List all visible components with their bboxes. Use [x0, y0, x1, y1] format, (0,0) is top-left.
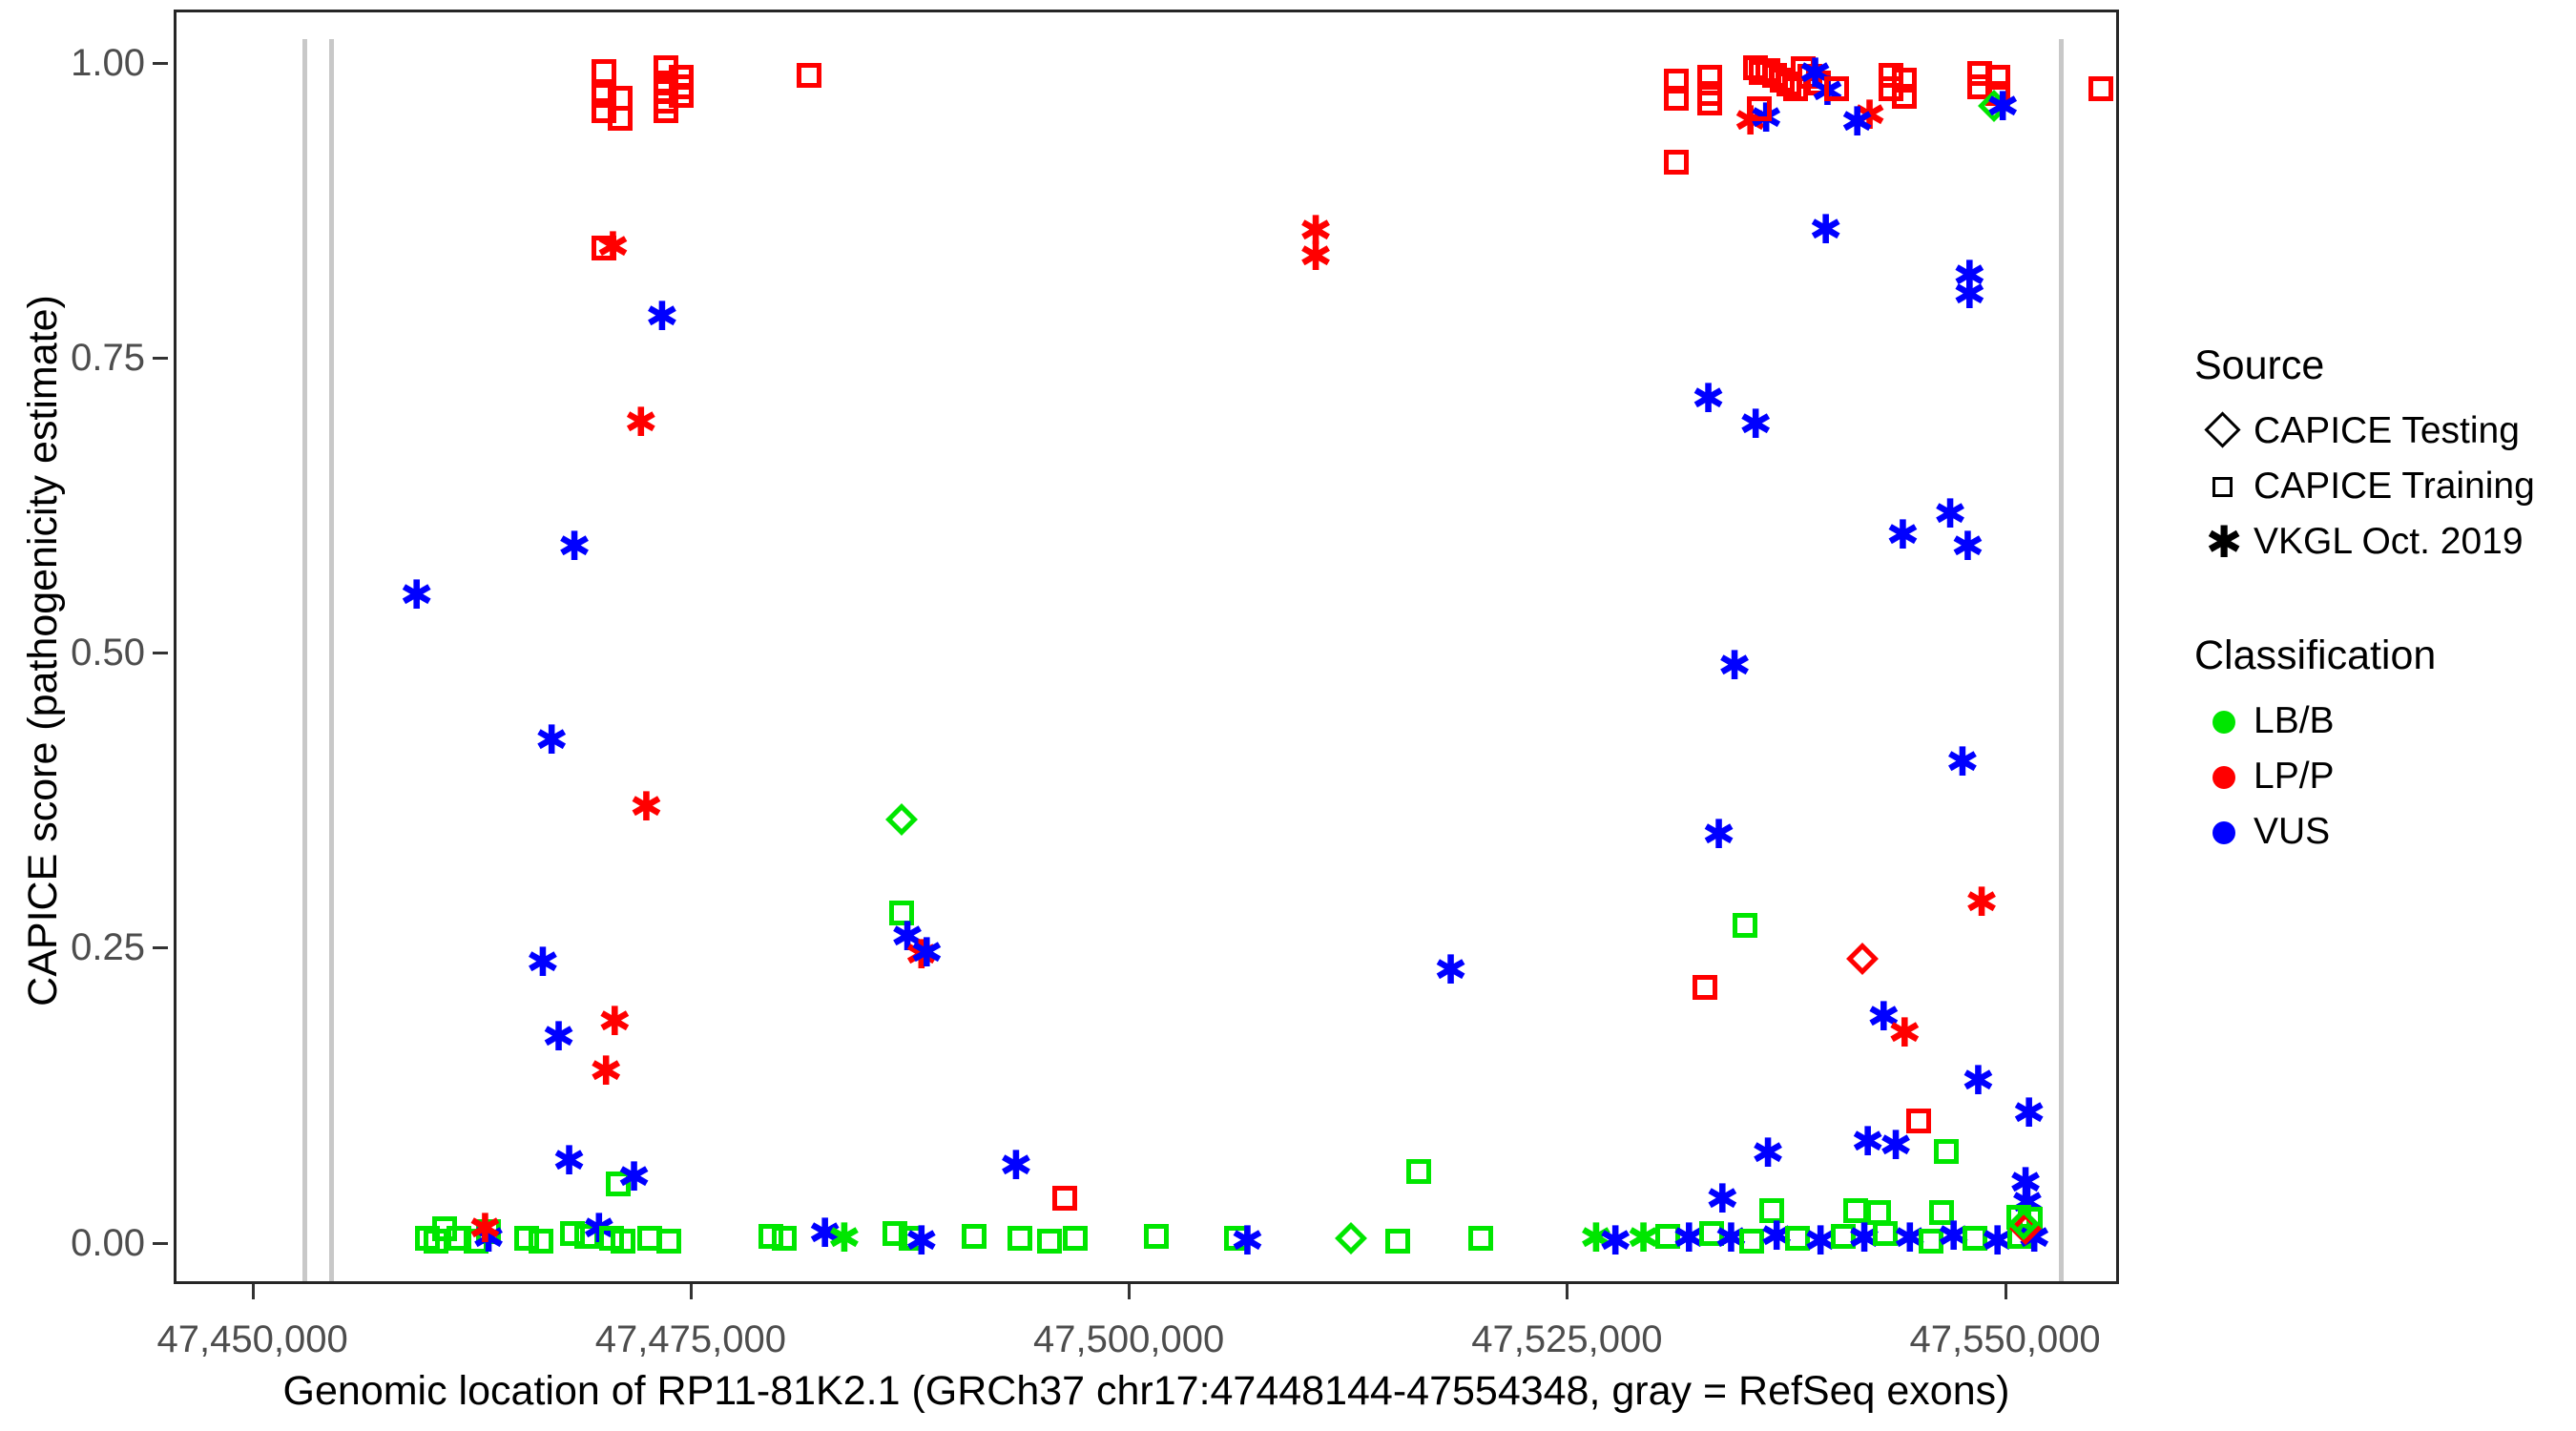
- scatter-point: [1873, 1221, 1898, 1246]
- scatter-point: ✱: [1946, 527, 1988, 567]
- scatter-point: [476, 1219, 501, 1244]
- x-tick-label: 47,550,000: [1862, 1318, 2149, 1360]
- scatter-point: ✱: [620, 403, 662, 443]
- scatter-point: ✱: [1961, 882, 2003, 923]
- scatter-point: ✱: [641, 297, 683, 337]
- legend-item-label: CAPICE Testing: [2254, 404, 2520, 459]
- scatter-point: [1759, 1198, 1784, 1223]
- scatter-point: [2006, 1205, 2031, 1230]
- scatter-point: [1697, 81, 1722, 106]
- scatter-point: ✱: [1881, 515, 1923, 555]
- x-tick-mark: [1566, 1284, 1568, 1299]
- scatter-point: [1919, 1229, 1943, 1254]
- scatter-point: [758, 1224, 783, 1249]
- scatter-point: [1655, 1224, 1680, 1249]
- x-tick-mark: [2005, 1284, 2007, 1299]
- scatter-point: [1008, 1226, 1032, 1251]
- scatter-point: [899, 1226, 924, 1251]
- scatter-point: ✱: [530, 720, 572, 760]
- scatter-point: ✱: [1735, 404, 1776, 445]
- scatter-point: ✱: [1957, 1061, 1999, 1101]
- scatter-point: ✱: [1701, 1179, 1743, 1219]
- scatter-point: ✱: [625, 787, 667, 827]
- scatter-point: [889, 901, 914, 925]
- scatter-point: [1985, 65, 2010, 90]
- scatter-point: [886, 803, 919, 836]
- scatter-point: [1866, 1200, 1891, 1225]
- y-tick-mark: [153, 357, 168, 360]
- scatter-point: ✱: [823, 1218, 865, 1258]
- scatter-point: [1762, 63, 1787, 88]
- x-tick-label: 47,500,000: [986, 1318, 1272, 1360]
- scatter-point: [447, 1226, 471, 1251]
- scatter-point: [1785, 1226, 1810, 1251]
- scatter-point: ✱: [464, 1209, 506, 1249]
- scatter-point: ✱: [1837, 102, 1879, 142]
- scatter-point: [1664, 150, 1689, 175]
- scatter-point: [608, 106, 633, 131]
- scatter-point: ✱: [1295, 211, 1337, 251]
- scatter-point: ✱: [1714, 646, 1755, 686]
- scatter-point: ✱: [1668, 1218, 1710, 1258]
- scatter-point: ✱: [1295, 237, 1337, 277]
- scatter-point: [669, 83, 694, 108]
- scatter-point: ✱: [1698, 815, 1740, 855]
- x-tick-label: 47,525,000: [1423, 1318, 1710, 1360]
- y-axis-tick-labels: 0.000.250.500.751.00: [0, 0, 145, 1431]
- scatter-point: ✱: [396, 575, 438, 615]
- scatter-point: ✱: [1747, 1133, 1789, 1173]
- scatter-point: ✱: [585, 1051, 627, 1091]
- asterisk-icon: ✱: [2194, 514, 2254, 570]
- scatter-point: [608, 86, 633, 111]
- scatter-point: ✱: [553, 527, 595, 567]
- legend-title-classification: Classification: [2194, 629, 2576, 682]
- scatter-point: [1406, 1159, 1431, 1184]
- scatter-point: [1892, 84, 1917, 109]
- legend-key-dot: [2194, 749, 2254, 804]
- legend-item-capice-testing[interactable]: CAPICE Testing: [2194, 404, 2576, 459]
- scatter-point: [415, 1226, 440, 1251]
- scatter-point: ✱: [1889, 1218, 1931, 1258]
- dot-icon: [2212, 766, 2235, 789]
- scatter-point: [1747, 96, 1772, 121]
- dot-icon: [2212, 821, 2235, 844]
- scatter-point: [1749, 60, 1774, 85]
- scatter-point: ✱: [1883, 1013, 1925, 1053]
- scatter-point: [1063, 1226, 1088, 1251]
- scatter-point: ✱: [467, 1218, 509, 1258]
- scatter-point: [2007, 1208, 2040, 1240]
- scatter-point: ✱: [1730, 101, 1772, 141]
- scatter-point: [669, 74, 694, 99]
- scatter-point: [1743, 55, 1768, 80]
- scatter-point: [1967, 74, 1992, 99]
- scatter-point: ✱: [905, 933, 947, 973]
- scatter-point: ✱: [613, 1157, 654, 1197]
- scatter-point: [514, 1226, 539, 1251]
- scatter-point: [1335, 1222, 1367, 1255]
- refseq-exon-line: [2059, 39, 2064, 1281]
- scatter-point: ✱: [1942, 742, 1984, 782]
- x-tick-mark: [252, 1284, 255, 1299]
- plot-panel: ✱✱✱✱✱✱✱✱✱✱✱✱✱✱✱✱✱✱✱✱✱✱✱✱✱✱✱✱✱✱✱✱✱✱✱✱✱✱✱✱…: [174, 10, 2119, 1284]
- scatter-point: [560, 1221, 585, 1246]
- x-axis-title: Genomic location of RP11-81K2.1 (GRCh37 …: [174, 1366, 2119, 1416]
- y-tick-label: 0.75: [2, 339, 145, 377]
- scatter-point: [1776, 72, 1801, 96]
- scatter-point: ✱: [2008, 1093, 2050, 1133]
- scatter-point: ✱: [1862, 997, 1904, 1037]
- scatter-point: [1697, 91, 1722, 115]
- scatter-point: ✱: [1805, 210, 1847, 250]
- scatter-point: [654, 89, 678, 114]
- capice-score-scatter-figure: CAPICE score (pathogenicity estimate) 0.…: [0, 0, 2576, 1431]
- scatter-point: [1978, 90, 2010, 122]
- legend-group-spacer: [2194, 570, 2576, 629]
- legend-key-square: [2194, 459, 2254, 514]
- square-icon: [2212, 477, 2233, 497]
- scatter-point: [1739, 1229, 1764, 1254]
- scatter-point: [1385, 1229, 1410, 1254]
- scatter-point: [1967, 61, 1992, 86]
- scatter-point: [883, 1221, 907, 1246]
- scatter-point: [424, 1229, 448, 1254]
- scatter-point: ✱: [1710, 1218, 1752, 1258]
- scatter-point: ✱: [2013, 1218, 2055, 1258]
- scatter-point: [464, 1229, 488, 1254]
- scatter-point: [1755, 58, 1780, 83]
- scatter-point: [1892, 68, 1917, 93]
- scatter-point: [637, 1226, 662, 1251]
- scatter-point: [1783, 76, 1808, 101]
- scatter-point: ✱: [1799, 1221, 1841, 1261]
- scatter-point: [1664, 86, 1689, 111]
- scatter-point: [606, 1172, 631, 1196]
- scatter-point: [1468, 1226, 1493, 1251]
- scatter-point: [1934, 1139, 1959, 1164]
- scatter-point: [592, 236, 616, 260]
- scatter-point: [1843, 1198, 1868, 1223]
- scatter-point: [2009, 1213, 2042, 1245]
- scatter-point: ✱: [901, 1221, 943, 1261]
- scatter-point: [1846, 943, 1879, 975]
- scatter-point: [611, 1229, 635, 1254]
- scatter-point: [669, 65, 694, 90]
- scatter-point: [1224, 1226, 1249, 1251]
- scatter-point: ✱: [1948, 256, 1990, 296]
- scatter-point: ✱: [1429, 950, 1471, 990]
- scatter-point: ✱: [522, 943, 564, 983]
- scatter-point: [654, 79, 678, 104]
- scatter-point: [2018, 1207, 2043, 1232]
- scatter-point: [1797, 64, 1822, 89]
- scatter-point: [1985, 81, 2010, 106]
- scatter-point: [2007, 1224, 2032, 1249]
- x-tick-label: 47,450,000: [110, 1318, 396, 1360]
- scatter-point: ✱: [1933, 1216, 1975, 1256]
- scatter-point: ✱: [1687, 379, 1729, 419]
- scatter-point: ✱: [2006, 1183, 2048, 1223]
- scatter-point: [1806, 71, 1831, 95]
- scatter-point: ✱: [592, 227, 634, 267]
- legend: SourceCAPICE TestingCAPICE Training✱VKGL…: [2194, 339, 2576, 860]
- refseq-exon-line: [329, 39, 334, 1281]
- scatter-point: [654, 98, 678, 123]
- x-tick-label: 47,475,000: [548, 1318, 834, 1360]
- scatter-point: [1144, 1224, 1169, 1249]
- scatter-point: [2088, 76, 2113, 101]
- legend-item-vus[interactable]: VUS: [2194, 804, 2576, 860]
- scatter-point: ✱: [1226, 1221, 1268, 1261]
- legend-item-lb-b[interactable]: LB/B: [2194, 694, 2576, 749]
- x-tick-mark: [1128, 1284, 1131, 1299]
- scatter-point: ✱: [1929, 494, 1971, 534]
- y-tick-mark: [153, 1242, 168, 1245]
- scatter-point: [654, 71, 678, 95]
- scatter-point: ✱: [901, 935, 943, 975]
- scatter-point: [592, 83, 616, 108]
- y-tick-mark: [153, 946, 168, 949]
- y-tick-label: 0.25: [2, 928, 145, 966]
- scatter-point: ✱: [1795, 53, 1837, 93]
- dot-icon: [2212, 711, 2235, 734]
- scatter-point: ✱: [1806, 72, 1848, 112]
- scatter-point: ✱: [804, 1213, 846, 1254]
- scatter-point: [1879, 63, 1903, 88]
- scatter-point: [1733, 913, 1757, 938]
- scatter-point: [772, 1226, 797, 1251]
- y-tick-label: 0.00: [2, 1224, 145, 1262]
- scatter-point: [1699, 1221, 1724, 1246]
- refseq-exon-line: [302, 39, 307, 1281]
- scatter-point: [1037, 1229, 1062, 1254]
- scatter-point: [1697, 65, 1722, 90]
- x-tick-mark: [690, 1284, 693, 1299]
- scatter-point: [654, 55, 678, 80]
- scatter-point: ✱: [1977, 1221, 2019, 1261]
- scatter-point: [1879, 76, 1903, 101]
- scatter-point: ✱: [1982, 87, 2024, 127]
- scatter-point: ✱: [886, 917, 928, 957]
- scatter-point: [592, 98, 616, 123]
- scatter-point: [529, 1229, 553, 1254]
- legend-item-capice-training[interactable]: CAPICE Training: [2194, 459, 2576, 514]
- scatter-point: [432, 1216, 457, 1241]
- legend-item-lp-p[interactable]: LP/P: [2194, 749, 2576, 804]
- scatter-point: [1664, 69, 1689, 93]
- scatter-point: [1906, 1109, 1931, 1133]
- legend-key-diamond: [2194, 404, 2254, 459]
- scatter-point: [1791, 56, 1816, 81]
- scatter-point: ✱: [1594, 1221, 1636, 1261]
- scatter-point: ✱: [1755, 1216, 1797, 1256]
- scatter-point: ✱: [548, 1141, 590, 1181]
- legend-item-label: LB/B: [2254, 694, 2335, 749]
- scatter-point: [1824, 76, 1849, 101]
- scatter-point: ✱: [1875, 1126, 1917, 1166]
- scatter-point: [1770, 68, 1795, 93]
- scatter-point: ✱: [1575, 1218, 1617, 1258]
- scatter-point: [962, 1224, 987, 1249]
- scatter-point: ✱: [537, 1017, 579, 1057]
- scatter-point: ✱: [593, 1002, 635, 1042]
- scatter-point: [599, 1226, 624, 1251]
- legend-item-label: CAPICE Training: [2254, 459, 2535, 514]
- scatter-point: ✱: [1848, 95, 1890, 135]
- scatter-point: [574, 1224, 599, 1249]
- scatter-point: ✱: [1623, 1218, 1665, 1258]
- scatter-point: ✱: [2005, 1163, 2046, 1203]
- y-tick-mark: [153, 652, 168, 654]
- scatter-point: ✱: [578, 1209, 620, 1249]
- legend-key-asterisk: ✱: [2194, 514, 2254, 570]
- diamond-icon: [2204, 411, 2240, 447]
- scatter-point: ✱: [1843, 1218, 1885, 1258]
- legend-item-vkgl-oct-2019[interactable]: ✱VKGL Oct. 2019: [2194, 514, 2576, 570]
- scatter-point: [592, 59, 616, 84]
- scatter-point: [1693, 975, 1717, 1000]
- scatter-point: [1929, 1200, 1954, 1225]
- scatter-point: ✱: [995, 1146, 1037, 1186]
- legend-item-label: VUS: [2254, 804, 2330, 860]
- legend-item-label: LP/P: [2254, 749, 2335, 804]
- scatter-point: [656, 1229, 681, 1254]
- y-tick-mark: [153, 62, 168, 65]
- legend-key-dot: [2194, 804, 2254, 860]
- scatter-point: ✱: [1745, 98, 1787, 138]
- y-tick-label: 0.50: [2, 633, 145, 672]
- scatter-point: ✱: [1948, 275, 1990, 315]
- legend-title-source: Source: [2194, 339, 2576, 392]
- legend-key-dot: [2194, 694, 2254, 749]
- scatter-point: [1052, 1186, 1077, 1211]
- scatter-point: [1831, 1224, 1856, 1249]
- scatter-point: ✱: [1847, 1122, 1889, 1162]
- legend-item-label: VKGL Oct. 2019: [2254, 514, 2524, 570]
- scatter-point: [797, 63, 821, 88]
- y-tick-label: 1.00: [2, 44, 145, 82]
- scatter-point: [1963, 1226, 1987, 1251]
